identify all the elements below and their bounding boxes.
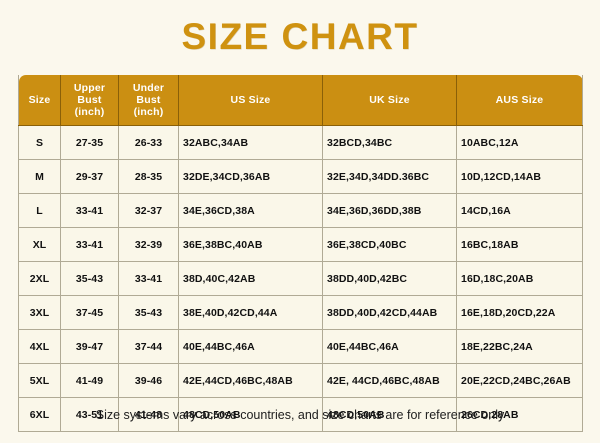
column-header-uk-size-line1: UK Size: [369, 94, 410, 106]
cell-aus-size: 20E,22CD,24BC,26AB: [457, 364, 583, 398]
size-chart-page: SIZE CHART Size Upper Bust (inch): [0, 0, 600, 443]
cell-upper-bust: 35-43: [61, 262, 119, 296]
cell-size: L: [19, 194, 61, 228]
table-row: L 33-41 32-37 34E,36CD,38A 34E,36D,36DD,…: [19, 194, 583, 228]
table-row: 2XL 35-43 33-41 38D,40C,42AB 38DD,40D,42…: [19, 262, 583, 296]
size-table-container: Size Upper Bust (inch) Under Bust (inch)…: [18, 75, 582, 432]
cell-aus-size: 16E,18D,20CD,22A: [457, 296, 583, 330]
table-row: XL 33-41 32-39 36E,38BC,40AB 36E,38CD,40…: [19, 228, 583, 262]
cell-under-bust: 33-41: [119, 262, 179, 296]
cell-upper-bust: 33-41: [61, 228, 119, 262]
cell-upper-bust: 41-49: [61, 364, 119, 398]
cell-size: M: [19, 160, 61, 194]
size-table: Size Upper Bust (inch) Under Bust (inch)…: [18, 75, 583, 432]
column-header-size-line1: Size: [29, 94, 51, 106]
cell-uk-size: 38DD,40D,42CD,44AB: [323, 296, 457, 330]
cell-upper-bust: 27-35: [61, 126, 119, 160]
page-title: SIZE CHART: [0, 0, 600, 55]
column-header-aus-size: AUS Size: [457, 75, 583, 126]
column-header-us-size-line1: US Size: [231, 94, 271, 106]
cell-size: 4XL: [19, 330, 61, 364]
column-header-upper-bust-line2: (inch): [75, 106, 105, 118]
cell-under-bust: 26-33: [119, 126, 179, 160]
cell-uk-size: 40E,44BC,46A: [323, 330, 457, 364]
cell-aus-size: 16D,18C,20AB: [457, 262, 583, 296]
cell-us-size: 40E,44BC,46A: [179, 330, 323, 364]
cell-upper-bust: 29-37: [61, 160, 119, 194]
footer-note: Size systems vary across countries, and …: [0, 408, 600, 422]
cell-uk-size: 38DD,40D,42BC: [323, 262, 457, 296]
column-header-upper-bust: Upper Bust (inch): [61, 75, 119, 126]
cell-upper-bust: 39-47: [61, 330, 119, 364]
column-header-under-bust-line2: (inch): [134, 106, 164, 118]
cell-us-size: 42E,44CD,46BC,48AB: [179, 364, 323, 398]
cell-under-bust: 39-46: [119, 364, 179, 398]
cell-uk-size: 36E,38CD,40BC: [323, 228, 457, 262]
cell-us-size: 34E,36CD,38A: [179, 194, 323, 228]
cell-us-size: 32DE,34CD,36AB: [179, 160, 323, 194]
table-row: S 27-35 26-33 32ABC,34AB 32BCD,34BC 10AB…: [19, 126, 583, 160]
cell-size: XL: [19, 228, 61, 262]
header-row: Size Upper Bust (inch) Under Bust (inch)…: [19, 75, 583, 126]
cell-uk-size: 34E,36D,36DD,38B: [323, 194, 457, 228]
cell-us-size: 38E,40D,42CD,44A: [179, 296, 323, 330]
table-header: Size Upper Bust (inch) Under Bust (inch)…: [19, 75, 583, 126]
table-row: 3XL 37-45 35-43 38E,40D,42CD,44A 38DD,40…: [19, 296, 583, 330]
cell-size: 5XL: [19, 364, 61, 398]
column-header-under-bust-line1: Under Bust: [133, 82, 164, 106]
column-header-us-size: US Size: [179, 75, 323, 126]
cell-uk-size: 42E, 44CD,46BC,48AB: [323, 364, 457, 398]
cell-upper-bust: 33-41: [61, 194, 119, 228]
cell-aus-size: 10ABC,12A: [457, 126, 583, 160]
column-header-uk-size: UK Size: [323, 75, 457, 126]
cell-upper-bust: 37-45: [61, 296, 119, 330]
cell-under-bust: 32-39: [119, 228, 179, 262]
cell-us-size: 32ABC,34AB: [179, 126, 323, 160]
column-header-upper-bust-line1: Upper Bust: [74, 82, 105, 106]
cell-uk-size: 32E,34D,34DD.36BC: [323, 160, 457, 194]
cell-under-bust: 28-35: [119, 160, 179, 194]
table-row: M 29-37 28-35 32DE,34CD,36AB 32E,34D,34D…: [19, 160, 583, 194]
cell-under-bust: 32-37: [119, 194, 179, 228]
column-header-under-bust: Under Bust (inch): [119, 75, 179, 126]
cell-uk-size: 32BCD,34BC: [323, 126, 457, 160]
cell-aus-size: 18E,22BC,24A: [457, 330, 583, 364]
cell-under-bust: 37-44: [119, 330, 179, 364]
cell-size: S: [19, 126, 61, 160]
cell-us-size: 36E,38BC,40AB: [179, 228, 323, 262]
table-body: S 27-35 26-33 32ABC,34AB 32BCD,34BC 10AB…: [19, 126, 583, 432]
cell-size: 3XL: [19, 296, 61, 330]
cell-size: 2XL: [19, 262, 61, 296]
table-row: 5XL 41-49 39-46 42E,44CD,46BC,48AB 42E, …: [19, 364, 583, 398]
table-row: 4XL 39-47 37-44 40E,44BC,46A 40E,44BC,46…: [19, 330, 583, 364]
cell-aus-size: 16BC,18AB: [457, 228, 583, 262]
column-header-aus-size-line1: AUS Size: [496, 94, 544, 106]
cell-under-bust: 35-43: [119, 296, 179, 330]
cell-aus-size: 10D,12CD,14AB: [457, 160, 583, 194]
column-header-size: Size: [19, 75, 61, 126]
cell-aus-size: 14CD,16A: [457, 194, 583, 228]
cell-us-size: 38D,40C,42AB: [179, 262, 323, 296]
